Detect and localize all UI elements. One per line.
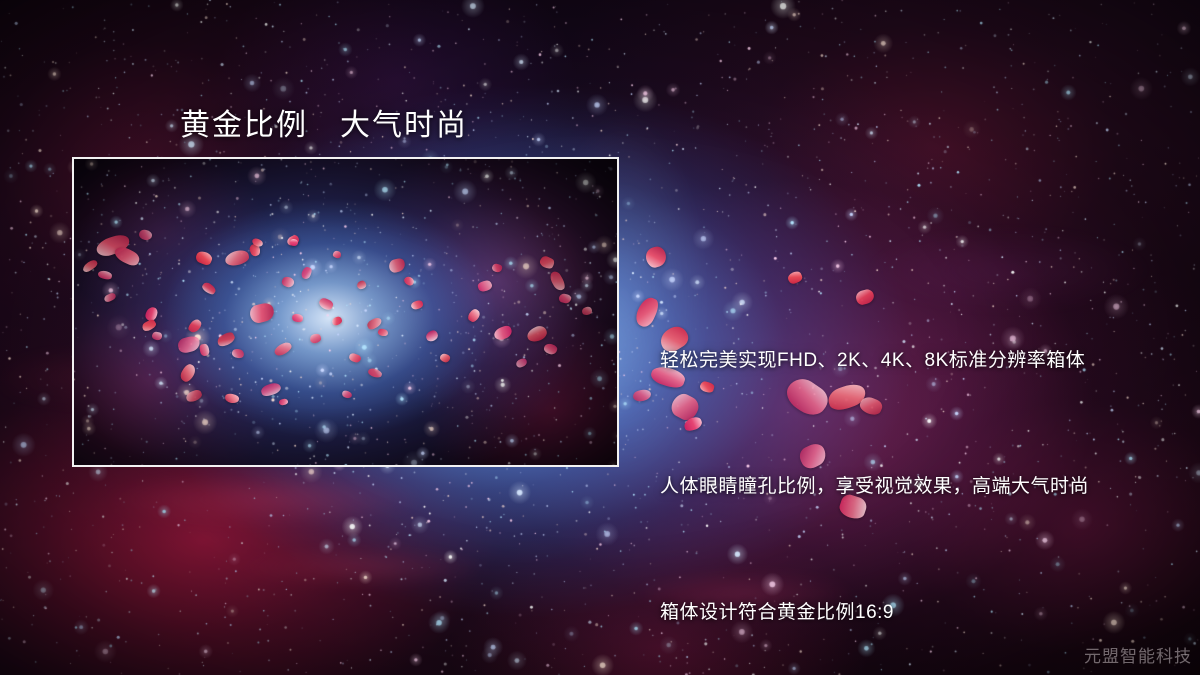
- body-text-block: 轻松完美实现FHD、2K、4K、8K标准分辨率箱体 人体眼睛瞳孔比例，享受视觉效…: [660, 256, 1089, 675]
- page-title: 黄金比例 大气时尚: [180, 100, 468, 144]
- petal: [632, 388, 652, 403]
- body-text-line-2: 人体眼睛瞳孔比例，享受视觉效果，高端大气时尚: [660, 466, 1089, 508]
- slide-canvas: 黄金比例 大气时尚 轻松完美实现FHD、2K、4K、8K标准分辨率箱体 人体眼睛…: [0, 0, 1200, 675]
- framed-image[interactable]: [72, 157, 619, 467]
- watermark: 元盟智能科技: [1084, 642, 1192, 667]
- petal: [633, 295, 662, 330]
- body-text-line-1: 轻松完美实现FHD、2K、4K、8K标准分辨率箱体: [660, 340, 1089, 382]
- body-text-line-3: 箱体设计符合黄金比例16:9: [660, 592, 1089, 634]
- framed-image-vignette: [74, 159, 617, 465]
